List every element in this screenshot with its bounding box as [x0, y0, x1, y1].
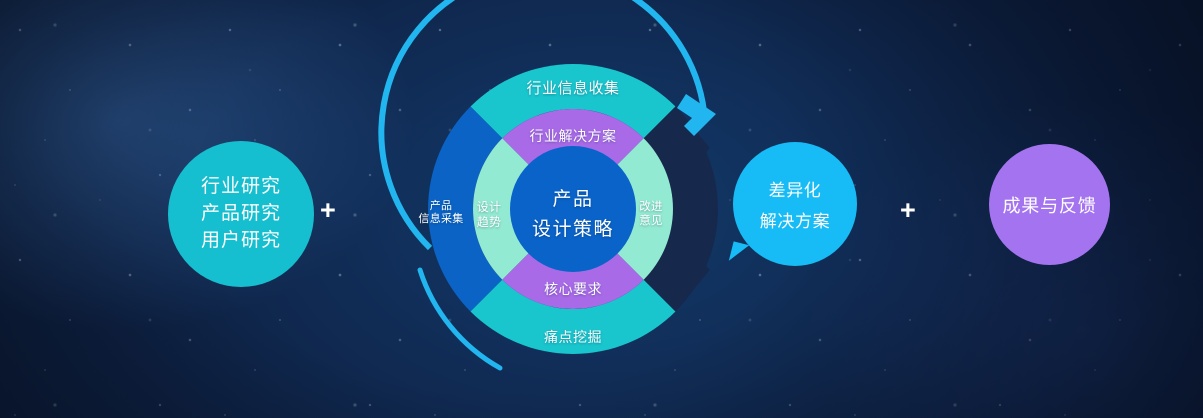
label-pain-point: 痛点挖掘 [504, 329, 642, 346]
label-core-requirement: 核心要求 [506, 281, 640, 298]
research-line-3: 用户研究 [201, 230, 281, 252]
research-line-2: 产品研究 [201, 203, 281, 225]
research-circle[interactable]: 行业研究 产品研究 用户研究 [168, 141, 314, 287]
label-product-info-collect-line1: 产品 [409, 200, 473, 213]
research-line-1: 行业研究 [201, 176, 281, 198]
strategy-wheel[interactable]: 行业信息收集 行业解决方案 核心要求 痛点挖掘 产品 信息采集 设计 趋势 改进… [380, 18, 760, 400]
outcome-label: 成果与反馈 [1003, 192, 1097, 218]
diff-line-1: 差异化 [769, 176, 822, 201]
wheel-center-line2: 设计策略 [490, 218, 656, 241]
plus-separator-1: + [320, 197, 336, 224]
diff-line-2: 解决方案 [760, 207, 830, 232]
label-product-info-collect: 产品 信息采集 [409, 200, 473, 227]
outcome-circle[interactable]: 成果与反馈 [989, 144, 1110, 265]
wheel-center-line1: 产品 [490, 188, 656, 211]
label-industry-solution: 行业解决方案 [502, 128, 644, 145]
plus-separator-2: + [900, 197, 916, 224]
infographic-canvas: 行业研究 产品研究 用户研究 + [0, 0, 1203, 418]
wheel-center-label: 产品 设计策略 [490, 188, 656, 241]
label-industry-info: 行业信息收集 [498, 80, 648, 98]
differentiation-circle[interactable]: 差异化 解决方案 [733, 142, 857, 266]
label-product-info-collect-line2: 信息采集 [409, 213, 473, 226]
